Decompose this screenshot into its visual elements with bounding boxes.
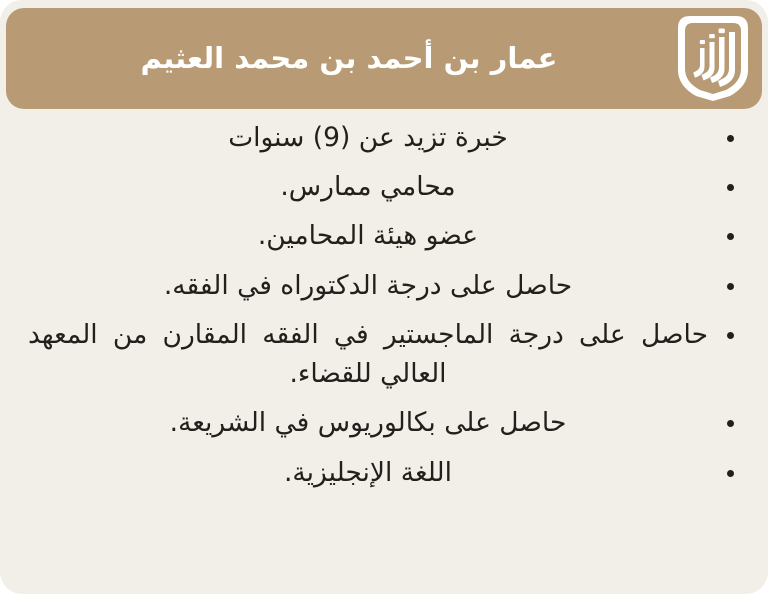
list-item: حاصل على درجة الماجستير في الفقه المقارن… [18,315,750,393]
list-item-label: حاصل على درجة الدكتوراه في الفقه. [28,266,708,305]
list-item: عضو هيئة المحامين. [18,216,750,255]
card-header: عمار بن أحمد بن محمد العثيم [6,8,762,109]
list-item: حاصل على درجة الدكتوراه في الفقه. [18,266,750,305]
list-item-label: حاصل على بكالوريوس في الشريعة. [28,403,708,442]
qualifications-list: خبرة تزيد عن (9) سنوات محامي ممارس. عضو … [18,118,750,574]
list-item: حاصل على بكالوريوس في الشريعة. [18,403,750,442]
list-item-label: عضو هيئة المحامين. [28,216,708,255]
bullet-icon [727,332,734,339]
list-item-label: محامي ممارس. [28,167,708,206]
bullet-icon [727,283,734,290]
bullet-icon [727,184,734,191]
bullet-icon [727,420,734,427]
bullet-icon [727,135,734,142]
list-item-label: خبرة تزيد عن (9) سنوات [28,118,708,157]
shield-emblem-logo [672,12,754,104]
list-item-label: اللغة الإنجليزية. [28,453,708,492]
bullet-icon [727,470,734,477]
list-item: اللغة الإنجليزية. [18,453,750,492]
list-item: محامي ممارس. [18,167,750,206]
list-item-label: حاصل على درجة الماجستير في الفقه المقارن… [28,315,708,393]
page-title: عمار بن أحمد بن محمد العثيم [46,8,652,109]
list-item: خبرة تزيد عن (9) سنوات [18,118,750,157]
bullet-icon [727,233,734,240]
profile-card: عمار بن أحمد بن محمد العثيم [0,0,768,594]
